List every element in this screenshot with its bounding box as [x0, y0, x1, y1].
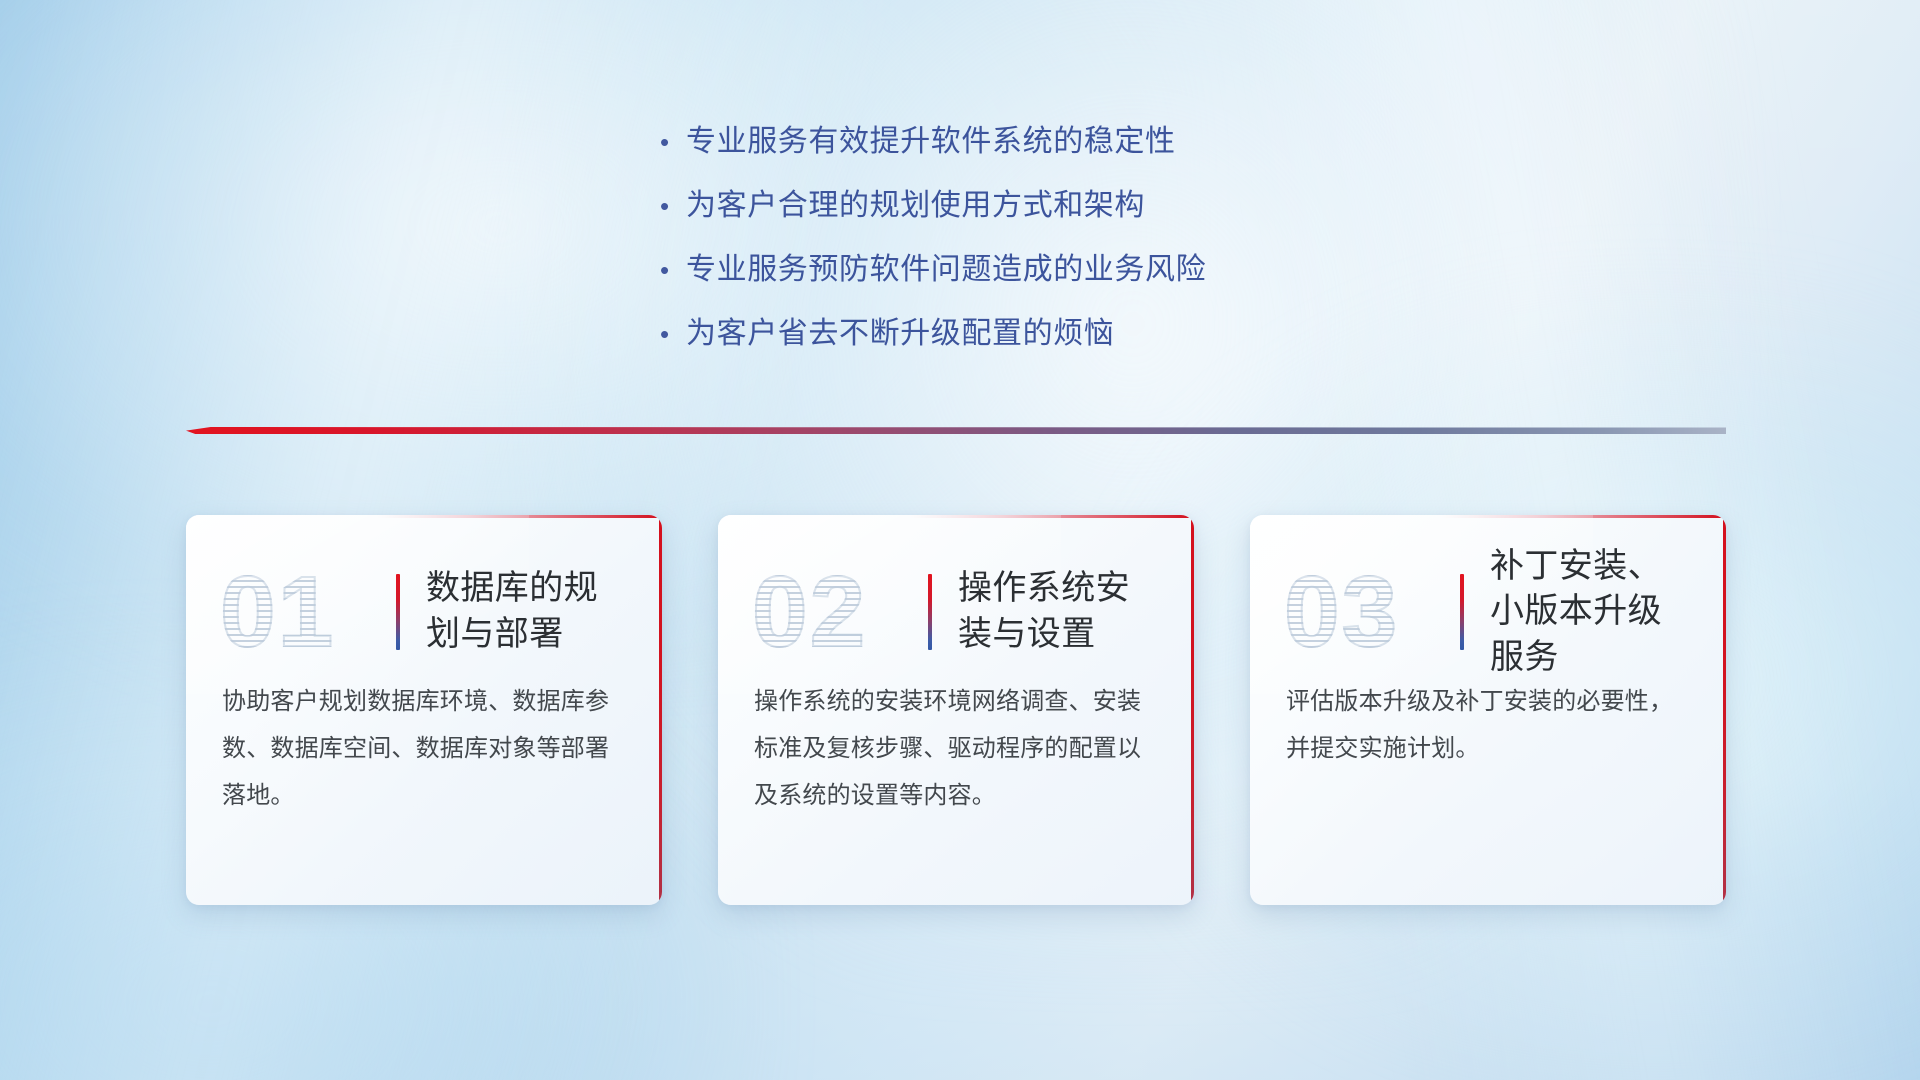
card-number: 03 — [1284, 562, 1456, 662]
divider-gradient-line — [186, 427, 1726, 434]
card-number: 02 — [752, 562, 924, 662]
bullet-text: 为客户合理的规划使用方式和架构 — [686, 174, 1145, 238]
section-divider — [186, 424, 1726, 438]
bullet-point-icon — [660, 110, 686, 174]
list-item: 为客户合理的规划使用方式和架构 — [660, 174, 1206, 238]
bullet-point-icon — [660, 174, 686, 238]
list-item: 专业服务有效提升软件系统的稳定性 — [660, 110, 1206, 174]
card-divider-bar — [1460, 574, 1464, 650]
card-header: 02 操作系统安装与设置 — [718, 515, 1194, 675]
card-title: 补丁安装、小版本升级服务 — [1490, 544, 1696, 681]
list-item: 专业服务预防软件问题造成的业务风险 — [660, 238, 1206, 302]
bullet-point-icon — [660, 238, 686, 302]
card-divider-bar — [396, 574, 400, 650]
service-card-01[interactable]: 01 数据库的规划与部署 协助客户规划数据库环境、数据库参数、数据库空间、数据库… — [186, 515, 662, 905]
benefits-bullet-list: 专业服务有效提升软件系统的稳定性 为客户合理的规划使用方式和架构 专业服务预防软… — [660, 110, 1206, 366]
card-title: 数据库的规划与部署 — [426, 566, 632, 657]
bullet-text: 专业服务预防软件问题造成的业务风险 — [686, 238, 1206, 302]
bullet-text: 专业服务有效提升软件系统的稳定性 — [686, 110, 1176, 174]
service-card-03[interactable]: 03 补丁安装、小版本升级服务 评估版本升级及补丁安装的必要性，并提交实施计划。 — [1250, 515, 1726, 905]
card-number: 01 — [220, 562, 392, 662]
card-divider-bar — [928, 574, 932, 650]
list-item: 为客户省去不断升级配置的烦恼 — [660, 302, 1206, 366]
bullet-text: 为客户省去不断升级配置的烦恼 — [686, 302, 1114, 366]
service-card-02[interactable]: 02 操作系统安装与设置 操作系统的安装环境网络调查、安装标准及复核步骤、驱动程… — [718, 515, 1194, 905]
card-description: 评估版本升级及补丁安装的必要性，并提交实施计划。 — [1250, 675, 1726, 773]
card-header: 01 数据库的规划与部署 — [186, 515, 662, 675]
card-title: 操作系统安装与设置 — [958, 566, 1164, 657]
card-description: 协助客户规划数据库环境、数据库参数、数据库空间、数据库对象等部署落地。 — [186, 675, 662, 819]
bullet-point-icon — [660, 302, 686, 366]
card-header: 03 补丁安装、小版本升级服务 — [1250, 515, 1726, 675]
card-description: 操作系统的安装环境网络调查、安装标准及复核步骤、驱动程序的配置以及系统的设置等内… — [718, 675, 1194, 819]
service-card-group: 01 数据库的规划与部署 协助客户规划数据库环境、数据库参数、数据库空间、数据库… — [186, 515, 1726, 905]
